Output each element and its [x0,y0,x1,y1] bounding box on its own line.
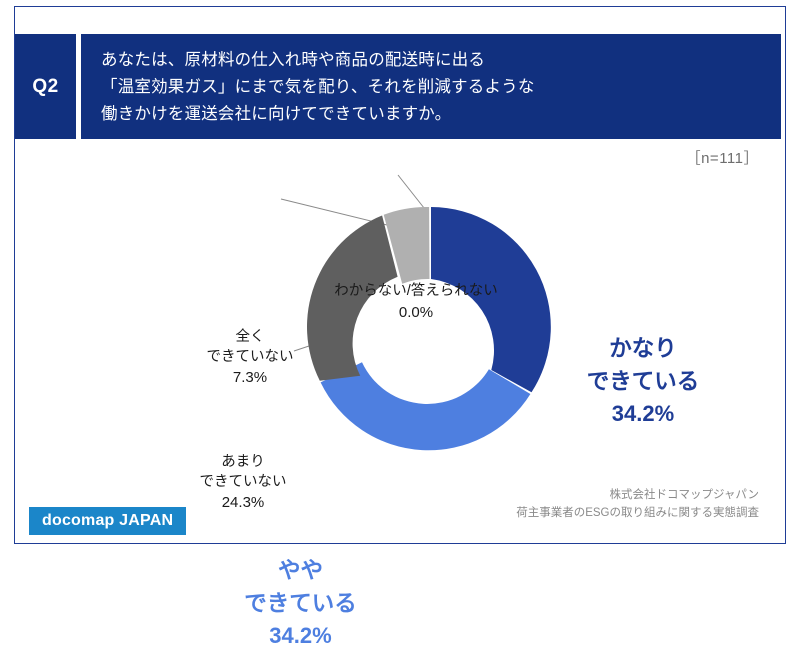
donut-chart: わからない/答えられない 0.0% 全く できていない 7.3% あまり できて… [15,139,787,499]
label-quite-line2: できている [543,366,743,399]
label-unknown-text: わからない/答えられない [301,281,531,301]
label-none-line1: 全く [175,327,325,347]
question-number-badge: Q2 [15,34,76,139]
question-text: あなたは、原材料の仕入れ時や商品の配送時に出る 「温室効果ガス」にまで気を配り、… [81,34,781,139]
label-somewhat-value: 34.2% [198,620,403,652]
label-little-value: 24.3% [163,493,323,514]
credit-company: 株式会社ドコマップジャパン [516,487,759,505]
question-line-2: 「温室効果ガス」にまで気を配り、それを削減するような [101,74,781,101]
question-line-3: 働きかけを運送会社に向けてできていますか。 [101,101,781,128]
slide-frame: Q2 あなたは、原材料の仕入れ時や商品の配送時に出る 「温室効果ガス」にまで気を… [14,6,786,544]
label-little-line1: あまり [163,452,323,472]
label-little-line2: できていない [163,472,323,492]
label-somewhat-line2: できている [198,588,403,621]
label-somewhat: やや できている 34.2% [198,555,403,652]
donut-segments [307,207,551,450]
label-none-value: 7.3% [175,368,325,389]
question-line-1: あなたは、原材料の仕入れ時や商品の配送時に出る [101,47,781,74]
label-quite-line1: かなり [543,333,743,366]
label-unknown: わからない/答えられない 0.0% [301,281,531,324]
label-none-line2: できていない [175,347,325,367]
credit-survey: 荷主事業者のESGの取り組みに関する実態調査 [516,505,759,523]
label-quite-value: 34.2% [543,398,743,430]
label-none: 全く できていない 7.3% [175,327,325,389]
label-somewhat-line1: やや [198,555,403,588]
question-header: Q2 あなたは、原材料の仕入れ時や商品の配送時に出る 「温室効果ガス」にまで気を… [15,34,787,139]
label-unknown-value: 0.0% [301,303,531,324]
docomap-logo: docomap JAPAN [29,507,186,535]
label-quite: かなり できている 34.2% [543,333,743,430]
source-credits: 株式会社ドコマップジャパン 荷主事業者のESGの取り組みに関する実態調査 [516,487,759,523]
label-little: あまり できていない 24.3% [163,452,323,514]
